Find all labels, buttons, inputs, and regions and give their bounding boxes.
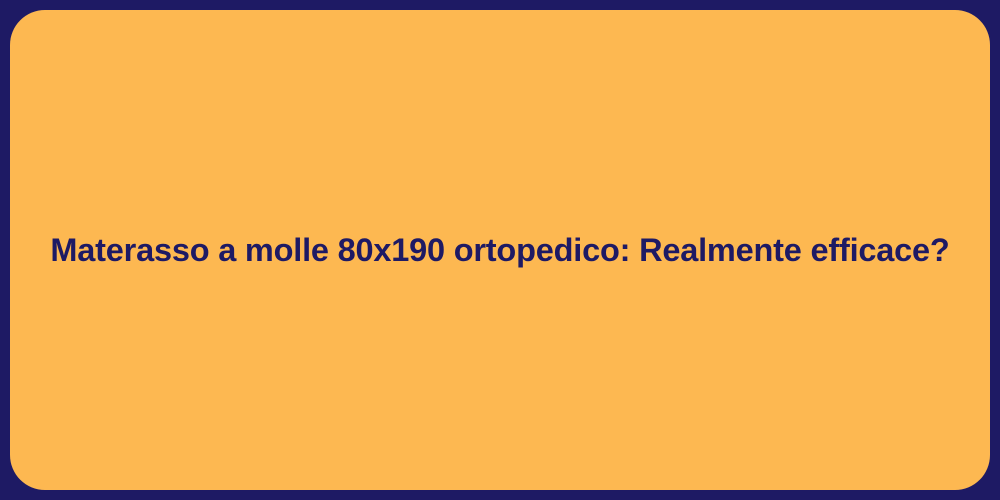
banner-panel: Materasso a molle 80x190 ortopedico: Rea… bbox=[10, 10, 990, 490]
banner-frame: Materasso a molle 80x190 ortopedico: Rea… bbox=[0, 0, 1000, 500]
banner-headline: Materasso a molle 80x190 ortopedico: Rea… bbox=[50, 230, 949, 271]
